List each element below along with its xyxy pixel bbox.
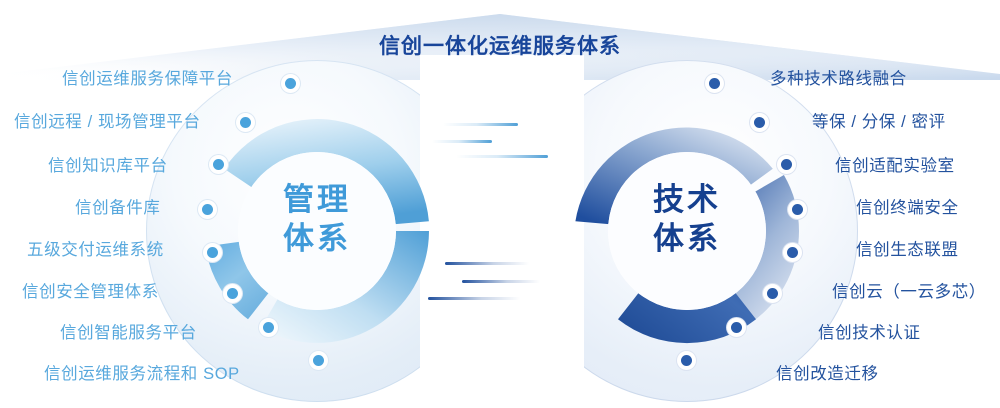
infographic-canvas: 信创一体化运维服务体系 [0,0,1000,408]
right-node-label-4[interactable]: 信创终端安全 [0,194,1000,218]
right-node-label-8[interactable]: 信创改造迁移 [0,360,1000,384]
right-node-label-1[interactable]: 多种技术路线融合 [0,65,1000,89]
right-node-label-6[interactable]: 信创云（一云多芯） [0,278,1000,302]
right-node-label-5[interactable]: 信创生态联盟 [0,236,1000,260]
page-title: 信创一体化运维服务体系 [0,30,1000,60]
speed-line-upper-2 [432,140,492,143]
right-node-label-2[interactable]: 等保 / 分保 / 密评 [0,108,1000,132]
right-node-label-7[interactable]: 信创技术认证 [0,319,1000,343]
speed-line-lower-1 [445,262,529,265]
right-node-label-3[interactable]: 信创适配实验室 [0,152,1000,176]
